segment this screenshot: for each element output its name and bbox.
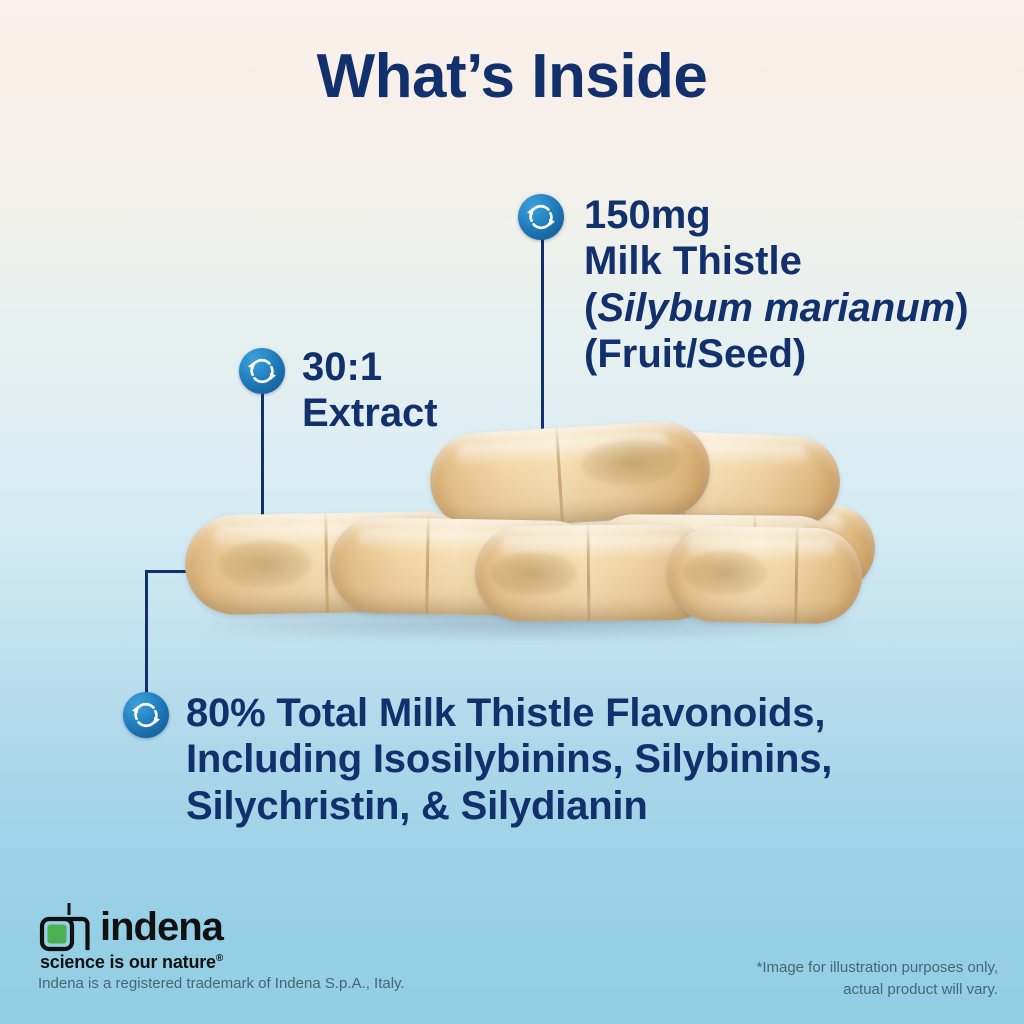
capsule-powder (219, 539, 312, 589)
milk-thistle-capsules-pile (175, 415, 875, 650)
registered-mark: ® (216, 953, 223, 964)
paren-open: ( (584, 286, 597, 330)
callout-dosage: 150mg Milk Thistle (Silybum marianum) (F… (584, 192, 969, 378)
callout-extract-line2: Extract (302, 390, 438, 436)
capsule-seam (425, 518, 430, 614)
callout-flavonoids-line3: Silychristin, & Silydianin (186, 783, 832, 829)
indena-logo-mark-icon (38, 902, 100, 958)
callout-flavonoids-line2: Including Isosilybinins, Silybinins, (186, 736, 832, 782)
callout-flavonoids: 80% Total Milk Thistle Flavonoids, Inclu… (186, 690, 832, 829)
capsule-seam (794, 528, 799, 624)
callout-dosage-line2: Milk Thistle (584, 238, 969, 284)
refresh-circle-icon-dosage (518, 194, 564, 240)
callout-extract-ratio: 30:1 Extract (302, 344, 438, 437)
capsule-powder (491, 551, 577, 596)
indena-tagline: science is our nature® (40, 952, 223, 973)
disclaimer-line1: *Image for illustration purposes only, (756, 957, 998, 979)
indena-wordmark: indena (100, 902, 223, 952)
callout-dosage-line4: (Fruit/Seed) (584, 331, 969, 377)
capsule-powder (683, 550, 768, 595)
refresh-circle-icon-extract (239, 348, 285, 394)
callout-extract-line1: 30:1 (302, 344, 438, 390)
leader-line-flavonoids-vertical (145, 570, 148, 698)
callout-flavonoids-line1: 80% Total Milk Thistle Flavonoids, (186, 690, 832, 736)
indena-tagline-text: science is our nature (40, 952, 216, 972)
callout-dosage-line1: 150mg (584, 192, 969, 238)
trademark-note: Indena is a registered trademark of Inde… (38, 975, 405, 992)
page-title: What’s Inside (0, 44, 1024, 109)
image-disclaimer: *Image for illustration purposes only, a… (756, 957, 998, 1001)
disclaimer-line2: actual product will vary. (756, 979, 998, 1001)
indena-logo: indena science is our nature® (38, 900, 278, 972)
capsule-front-right (666, 525, 863, 624)
infographic-canvas: What’s Inside (0, 0, 1024, 1024)
botanical-name: Silybum marianum (597, 286, 955, 330)
refresh-circle-icon-flavonoids (123, 692, 169, 738)
paren-close: ) (955, 286, 968, 330)
callout-dosage-line3: (Silybum marianum) (584, 285, 969, 331)
